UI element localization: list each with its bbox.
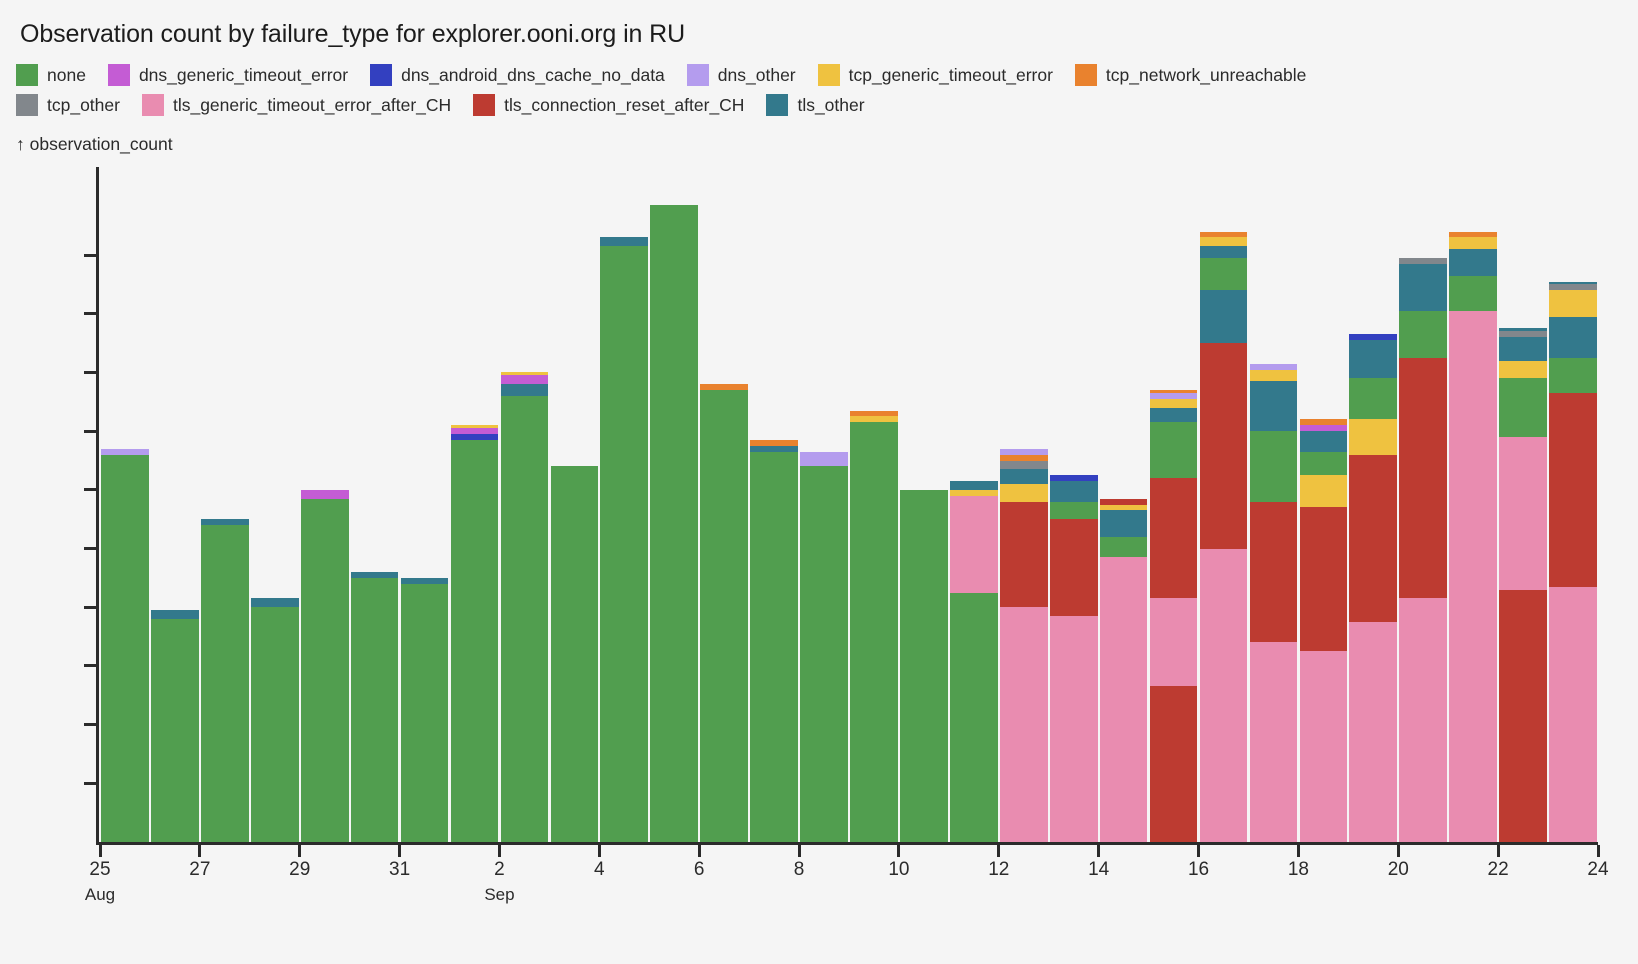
legend-swatch-icon — [1075, 64, 1097, 86]
x-tick-label: 20 — [1358, 859, 1438, 881]
x-tick-mark — [198, 845, 201, 857]
bar-segment-none — [1449, 276, 1497, 311]
legend-item-tls-connection-reset-after-CH[interactable]: tls_connection_reset_after_CH — [473, 94, 744, 116]
bar-segment-tls-connection-reset-after-CH-b — [1150, 478, 1198, 598]
bar-sep-10[interactable] — [900, 490, 948, 842]
x-tick-label: 14 — [1059, 859, 1139, 881]
bar-segment-tls-other — [600, 237, 648, 246]
legend-item-tcp-network-unreachable[interactable]: tcp_network_unreachable — [1075, 64, 1306, 86]
bar-aug-26[interactable] — [151, 610, 199, 842]
legend-item-dns-other[interactable]: dns_other — [687, 64, 796, 86]
bar-segment-tls-other — [950, 481, 998, 490]
plot-area — [100, 167, 1598, 842]
chart-legend: nonedns_generic_timeout_errordns_android… — [16, 60, 1630, 120]
x-tick-label: 29 — [260, 859, 340, 881]
bar-segment-tls-other — [1349, 340, 1397, 378]
bar-sep-4[interactable] — [600, 237, 648, 842]
bar-segment-none — [950, 593, 998, 842]
bar-segment-none — [600, 246, 648, 842]
bar-sep-1[interactable] — [451, 425, 499, 842]
legend-swatch-icon — [370, 64, 392, 86]
bar-segment-tcp-generic-timeout-error — [1300, 475, 1348, 507]
bar-segment-tls-connection-reset-after-CH — [1050, 519, 1098, 616]
bar-segment-none — [451, 440, 499, 842]
legend-swatch-icon — [16, 94, 38, 116]
bar-segment-tls-generic-timeout-error-after-CH — [1000, 607, 1048, 842]
y-axis-line — [96, 167, 99, 842]
y-tick-mark — [84, 782, 96, 785]
y-tick-mark — [84, 430, 96, 433]
bar-sep-15[interactable] — [1150, 390, 1198, 842]
y-tick-mark — [84, 488, 96, 491]
bar-segment-none — [151, 619, 199, 842]
bar-sep-3[interactable] — [551, 466, 599, 842]
bar-segment-tls-connection-reset-after-CH — [1499, 590, 1547, 842]
bar-segment-tls-other — [1200, 290, 1248, 343]
x-tick-mark — [498, 845, 501, 857]
legend-item-label: dns_android_dns_cache_no_data — [401, 65, 665, 86]
bar-segment-tls-other — [1050, 481, 1098, 502]
bar-segment-tls-generic-timeout-error-after-CH — [1050, 616, 1098, 842]
bar-sep-16[interactable] — [1200, 232, 1248, 842]
chart-title: Observation count by failure_type for ex… — [20, 20, 685, 49]
bar-sep-14[interactable] — [1100, 499, 1148, 842]
bar-sep-2[interactable] — [501, 372, 549, 842]
bar-segment-none — [900, 490, 948, 842]
legend-swatch-icon — [16, 64, 38, 86]
bar-segment-none — [501, 396, 549, 842]
x-tick-label: 12 — [959, 859, 1039, 881]
bar-segment-none — [1300, 452, 1348, 475]
bar-segment-tcp-other — [1000, 461, 1048, 470]
legend-item-label: tls_generic_timeout_error_after_CH — [173, 95, 451, 116]
bar-sep-11[interactable] — [950, 481, 998, 842]
bar-segment-tls-generic-timeout-error-after-CH — [1300, 651, 1348, 842]
x-tick-label: 6 — [659, 859, 739, 881]
x-tick-label: 8 — [759, 859, 839, 881]
bar-segment-tls-other — [1150, 408, 1198, 423]
legend-item-tcp-other[interactable]: tcp_other — [16, 94, 120, 116]
bar-segment-none — [800, 466, 848, 842]
legend-swatch-icon — [108, 64, 130, 86]
bar-sep-22[interactable] — [1499, 328, 1547, 842]
bar-segment-none — [101, 455, 149, 842]
bar-aug-29[interactable] — [301, 490, 349, 842]
y-tick-mark — [84, 312, 96, 315]
y-tick-mark — [84, 371, 96, 374]
legend-swatch-icon — [473, 94, 495, 116]
legend-item-tls-other[interactable]: tls_other — [766, 94, 864, 116]
bar-segment-tls-other — [1399, 264, 1447, 311]
bar-sep-9[interactable] — [850, 411, 898, 842]
bar-segment-none — [1250, 431, 1298, 501]
bar-segment-tls-connection-reset-after-CH — [1150, 686, 1198, 842]
legend-item-label: tcp_other — [47, 95, 120, 116]
bar-segment-none — [301, 499, 349, 842]
bar-sep-23[interactable] — [1549, 281, 1597, 842]
x-tick-mark — [1497, 845, 1500, 857]
legend-item-label: tcp_generic_timeout_error — [849, 65, 1053, 86]
x-tick-label: 24 — [1558, 859, 1638, 881]
bar-segment-tls-other — [1449, 249, 1497, 275]
bar-segment-none — [1100, 537, 1148, 558]
bar-sep-21[interactable] — [1449, 232, 1497, 842]
bar-sep-5[interactable] — [650, 205, 698, 842]
bar-segment-tcp-generic-timeout-error — [1349, 419, 1397, 454]
x-tick-label: 16 — [1159, 859, 1239, 881]
bar-segment-tls-generic-timeout-error-after-CH — [950, 496, 998, 593]
bar-segment-none — [1050, 502, 1098, 520]
legend-item-label: none — [47, 65, 86, 86]
bar-aug-31[interactable] — [401, 578, 449, 842]
legend-swatch-icon — [142, 94, 164, 116]
bar-aug-25[interactable] — [101, 449, 149, 842]
x-tick-label: 18 — [1258, 859, 1338, 881]
y-tick-mark — [84, 723, 96, 726]
bar-segment-tls-generic-timeout-error-after-CH — [1499, 437, 1547, 590]
x-tick-label: 31 — [360, 859, 440, 881]
bar-aug-30[interactable] — [351, 572, 399, 842]
bar-segment-tls-connection-reset-after-CH — [1200, 343, 1248, 548]
bar-segment-tls-connection-reset-after-CH — [1250, 502, 1298, 643]
bar-segment-none — [251, 607, 299, 842]
x-tick-label: 25 — [60, 859, 140, 881]
bar-segment-tls-other — [1000, 469, 1048, 484]
bar-segment-tcp-generic-timeout-error — [1449, 237, 1497, 249]
bar-segment-tls-connection-reset-after-CH — [1349, 455, 1397, 622]
bar-segment-none — [201, 525, 249, 842]
bar-segment-tls-other — [1300, 431, 1348, 452]
bar-segment-none — [1549, 358, 1597, 393]
legend-swatch-icon — [818, 64, 840, 86]
y-tick-mark — [84, 254, 96, 257]
x-tick-mark — [997, 845, 1000, 857]
x-tick-mark — [1197, 845, 1200, 857]
x-tick-month-label: Aug — [60, 885, 140, 905]
bar-segment-tls-generic-timeout-error-after-CH — [1399, 598, 1447, 842]
legend-item-tcp-generic-timeout-error[interactable]: tcp_generic_timeout_error — [818, 64, 1053, 86]
bar-segment-tcp-generic-timeout-error — [1150, 399, 1198, 408]
bar-segment-none — [1349, 378, 1397, 419]
bar-segment-tls-connection-reset-after-CH — [1000, 502, 1048, 608]
bar-segment-tls-connection-reset-after-CH — [1549, 393, 1597, 587]
bar-sep-20[interactable] — [1399, 258, 1447, 842]
bar-aug-27[interactable] — [201, 519, 249, 842]
bar-segment-tls-other — [1100, 510, 1148, 536]
bar-sep-8[interactable] — [800, 452, 848, 842]
legend-row: nonedns_generic_timeout_errordns_android… — [16, 60, 1630, 90]
bar-segment-none — [700, 390, 748, 842]
bar-segment-tls-generic-timeout-error-after-CH — [1150, 598, 1198, 686]
bar-segment-none — [1150, 422, 1198, 478]
bar-segment-tls-other — [1499, 337, 1547, 360]
bar-aug-28[interactable] — [251, 598, 299, 842]
bar-segment-tls-connection-reset-after-CH — [1300, 507, 1348, 651]
bar-segment-tls-other — [501, 384, 549, 396]
bar-segment-tls-generic-timeout-error-after-CH — [1549, 587, 1597, 842]
bar-segment-none — [1499, 378, 1547, 437]
legend-item-label: tls_other — [797, 95, 864, 116]
bar-segment-tls-other — [1549, 317, 1597, 358]
legend-swatch-icon — [687, 64, 709, 86]
bar-segment-tls-generic-timeout-error-after-CH — [1200, 549, 1248, 842]
x-tick-mark — [99, 845, 102, 857]
legend-item-dns-generic-timeout-error[interactable]: dns_generic_timeout_error — [108, 64, 348, 86]
bar-segment-tcp-generic-timeout-error — [1250, 370, 1298, 382]
x-tick-label: 22 — [1458, 859, 1538, 881]
y-axis-title: ↑ observation_count — [16, 134, 173, 155]
bar-segment-tls-other-b — [1200, 246, 1248, 258]
bar-segment-tls-generic-timeout-error-after-CH — [1100, 557, 1148, 842]
x-axis-line — [96, 842, 1598, 845]
legend-item-dns-android-dns-cache-no-data[interactable]: dns_android_dns_cache_no_data — [370, 64, 665, 86]
bar-segment-none — [650, 205, 698, 842]
x-tick-month-label: Sep — [459, 885, 539, 905]
x-tick-mark — [798, 845, 801, 857]
x-tick-mark — [1297, 845, 1300, 857]
legend-swatch-icon — [766, 94, 788, 116]
x-tick-mark — [398, 845, 401, 857]
bar-sep-19[interactable] — [1349, 334, 1397, 842]
x-tick-label: 10 — [859, 859, 939, 881]
bar-segment-tls-other — [1250, 381, 1298, 431]
x-tick-mark — [1097, 845, 1100, 857]
bar-sep-12[interactable] — [1000, 449, 1048, 842]
bar-segment-none — [351, 578, 399, 842]
bar-segment-tls-generic-timeout-error-after-CH — [1349, 622, 1397, 842]
x-tick-mark — [897, 845, 900, 857]
bar-segment-tcp-generic-timeout-error — [1200, 237, 1248, 246]
bar-segment-tcp-generic-timeout-error — [1000, 484, 1048, 502]
legend-item-label: dns_generic_timeout_error — [139, 65, 348, 86]
bar-sep-17[interactable] — [1250, 364, 1298, 842]
bar-segment-dns-other — [800, 452, 848, 467]
legend-item-none[interactable]: none — [16, 64, 86, 86]
y-tick-mark — [84, 606, 96, 609]
bar-segment-dns-generic-timeout-error — [301, 490, 349, 499]
legend-row: tcp_othertls_generic_timeout_error_after… — [16, 90, 1630, 120]
bar-segment-none — [1200, 258, 1248, 290]
legend-item-tls-generic-timeout-error-after-CH[interactable]: tls_generic_timeout_error_after_CH — [142, 94, 451, 116]
x-tick-mark — [598, 845, 601, 857]
x-tick-mark — [1597, 845, 1600, 857]
bar-segment-tls-generic-timeout-error-after-CH — [1449, 311, 1497, 842]
bar-segment-none — [1399, 311, 1447, 358]
bar-sep-13[interactable] — [1050, 475, 1098, 842]
legend-item-label: dns_other — [718, 65, 796, 86]
bar-segment-tls-connection-reset-after-CH — [1399, 358, 1447, 599]
x-tick-mark — [698, 845, 701, 857]
bar-segment-none — [401, 584, 449, 842]
x-tick-mark — [1397, 845, 1400, 857]
bar-segment-none — [850, 422, 898, 842]
legend-item-label: tcp_network_unreachable — [1106, 65, 1306, 86]
bar-segment-tls-generic-timeout-error-after-CH — [1250, 642, 1298, 842]
x-tick-label: 4 — [559, 859, 639, 881]
bar-segment-tls-other — [251, 598, 299, 607]
bar-sep-7[interactable] — [750, 440, 798, 842]
bar-sep-18[interactable] — [1300, 419, 1348, 842]
bar-segment-tls-other — [151, 610, 199, 619]
bar-segment-tcp-generic-timeout-error — [1549, 290, 1597, 316]
bar-segment-none — [750, 452, 798, 842]
legend-item-label: tls_connection_reset_after_CH — [504, 95, 744, 116]
bar-segment-dns-generic-timeout-error — [501, 375, 549, 384]
x-tick-mark — [298, 845, 301, 857]
bar-sep-6[interactable] — [700, 384, 748, 842]
x-tick-label: 2 — [459, 859, 539, 881]
y-tick-mark — [84, 664, 96, 667]
x-tick-label: 27 — [160, 859, 240, 881]
bar-segment-none — [551, 466, 599, 842]
bar-segment-tcp-generic-timeout-error — [1499, 361, 1547, 379]
y-tick-mark — [84, 547, 96, 550]
